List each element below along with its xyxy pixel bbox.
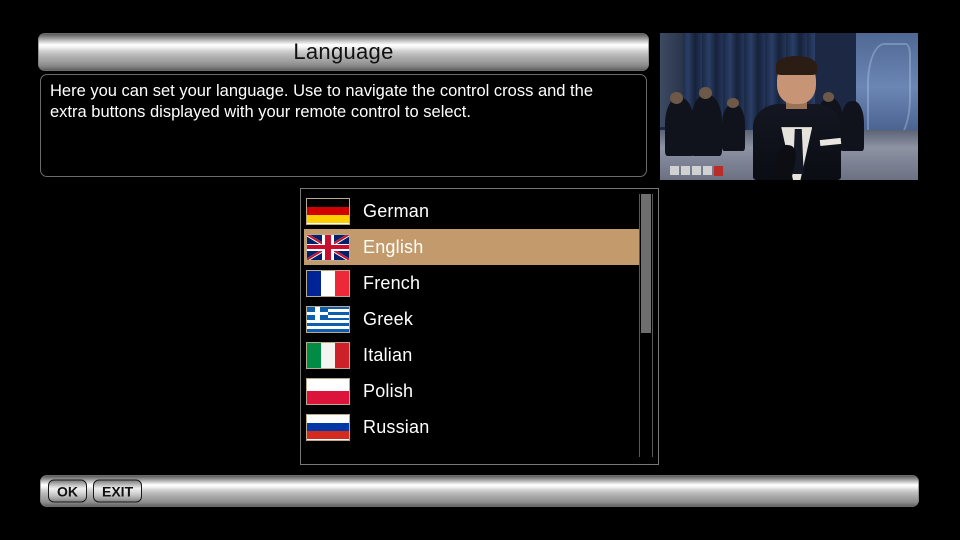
flag-de-icon xyxy=(306,198,350,225)
description-panel: Here you can set your language. Use to n… xyxy=(40,74,647,177)
list-scrollbar-thumb[interactable] xyxy=(641,194,651,333)
list-item[interactable]: French xyxy=(304,265,644,301)
language-list-rows: German English xyxy=(304,193,644,445)
description-text: Here you can set your language. Use to n… xyxy=(50,81,634,123)
list-item-label: French xyxy=(363,273,420,294)
title-bar: Language xyxy=(38,33,649,71)
footer-bar: OK EXIT xyxy=(40,475,919,507)
list-item[interactable]: German xyxy=(304,193,644,229)
flag-ru-icon xyxy=(306,414,350,441)
list-item[interactable]: Russian xyxy=(304,409,644,445)
preview-crowd-person xyxy=(691,95,722,157)
preview-crowd-person xyxy=(841,101,864,151)
list-scrollbar[interactable] xyxy=(639,194,653,457)
flag-fr-icon xyxy=(306,270,350,297)
preview-crowd-head xyxy=(670,92,683,104)
preview-crowd-head xyxy=(823,92,835,102)
exit-button[interactable]: EXIT xyxy=(93,480,142,503)
list-item-label: Greek xyxy=(363,309,413,330)
language-list[interactable]: German English xyxy=(300,188,659,465)
list-item[interactable]: Polish xyxy=(304,373,644,409)
list-item[interactable]: Italian xyxy=(304,337,644,373)
flag-gr-icon xyxy=(306,306,350,333)
tv-osd-screen: Language Here you can set your language.… xyxy=(0,0,960,540)
flag-gb-icon xyxy=(306,234,350,261)
list-item-label: English xyxy=(363,237,423,258)
list-item-label: German xyxy=(363,201,429,222)
list-item[interactable]: Greek xyxy=(304,301,644,337)
list-item-label: Italian xyxy=(363,345,412,366)
preview-channel-logo xyxy=(670,166,723,176)
flag-pl-icon xyxy=(306,378,350,405)
list-item[interactable]: English xyxy=(304,229,644,265)
preview-crowd-person xyxy=(665,98,693,157)
page-title: Language xyxy=(38,39,649,65)
list-item-label: Polish xyxy=(363,381,413,402)
preview-crowd-person xyxy=(722,104,745,151)
flag-it-icon xyxy=(306,342,350,369)
list-item-label: Russian xyxy=(363,417,429,438)
preview-crowd-head xyxy=(699,87,712,99)
preview-crowd-head xyxy=(727,98,739,108)
ok-button[interactable]: OK xyxy=(48,480,87,503)
footer-button-group: OK EXIT xyxy=(48,480,142,503)
live-tv-preview[interactable] xyxy=(660,33,918,180)
preview-reporter-hair xyxy=(776,56,817,75)
